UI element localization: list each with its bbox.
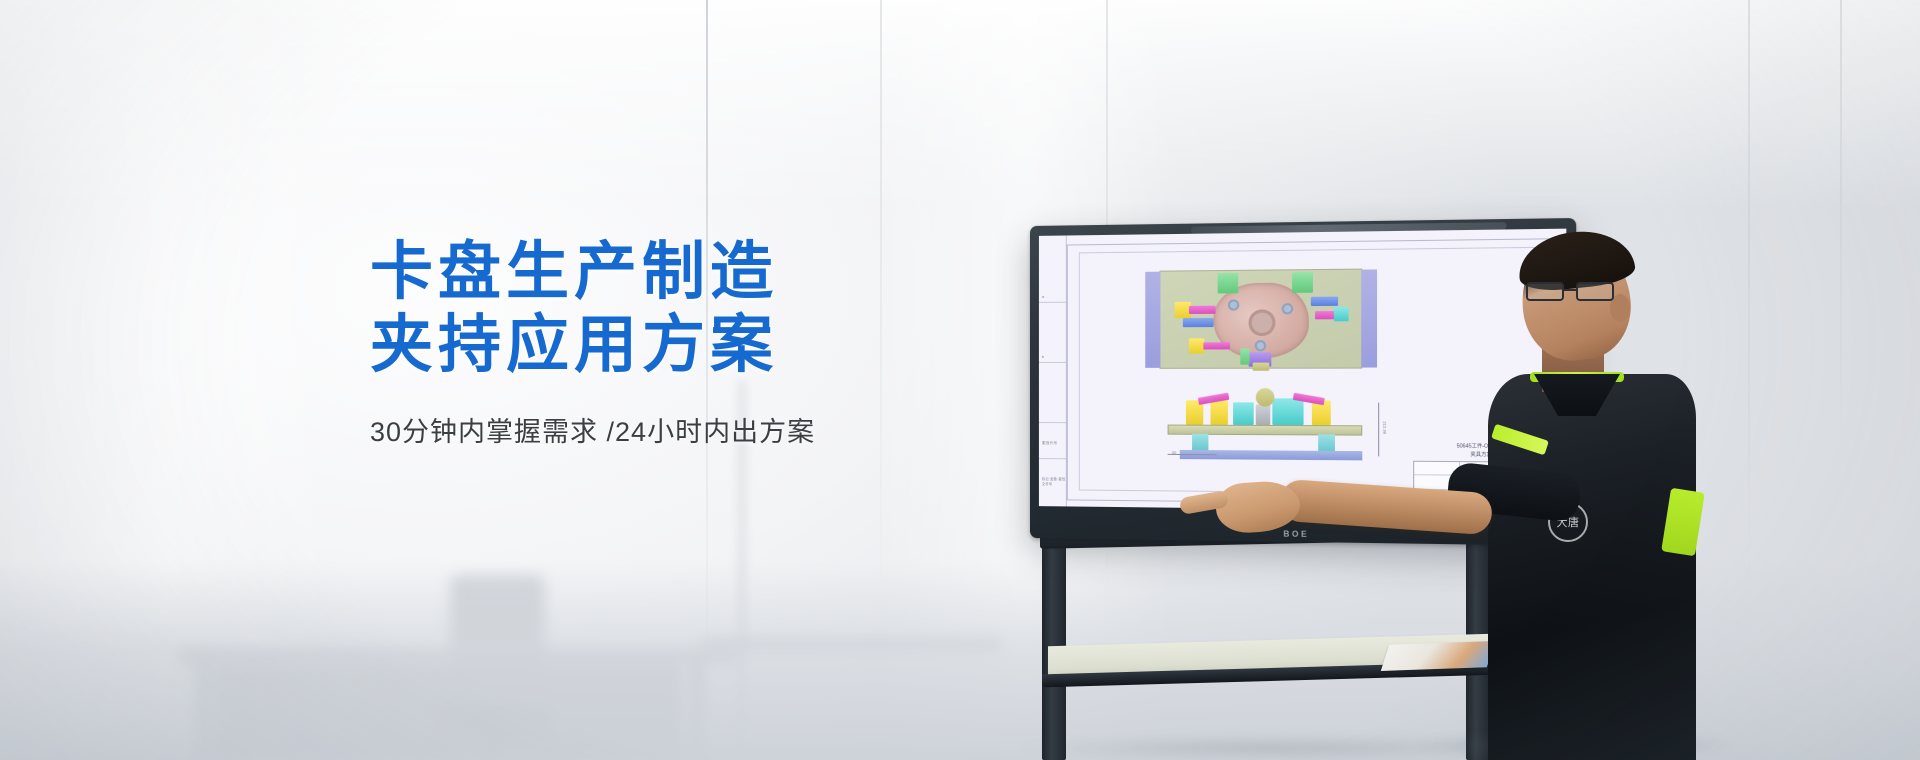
dim-line-h [1168, 454, 1217, 455]
clamp-magenta-1 [1189, 306, 1216, 314]
wall-seam-5 [1840, 0, 1842, 560]
fixture-leg-left [1192, 434, 1208, 450]
clamp-green-2 [1292, 272, 1313, 293]
hub-olive [1256, 388, 1275, 406]
clamp-olive-1 [1253, 363, 1270, 371]
banner-stage: 卡盘生产制造 夹持应用方案 30分钟内掌握需求 /24小时内出方案 [0, 0, 1920, 760]
fixture-leg-right [1318, 434, 1335, 451]
clamp-blue-2 [1311, 297, 1338, 306]
page-title: 卡盘生产制造 夹持应用方案 [370, 236, 930, 382]
post-cyan-2 [1272, 398, 1303, 425]
dim-line-v [1378, 403, 1379, 457]
presenter: 大唐 [1430, 236, 1750, 760]
clamp-green-1 [1218, 273, 1239, 294]
cad-front-view: 20 212.38 [1157, 388, 1377, 462]
post-cyan-1 [1233, 402, 1254, 425]
cad-label-revnote: 标记·处数·更改文件号 [1042, 476, 1066, 486]
headline-line-1: 卡盘生产制造 [370, 237, 778, 307]
post-yellow-2 [1210, 400, 1227, 424]
clamp-blue-1 [1183, 318, 1214, 327]
fixture-rail-right [1361, 269, 1377, 367]
fixture-rail-left [1145, 272, 1160, 368]
banner-copy: 卡盘生产制造 夹持应用方案 30分钟内掌握需求 /24小时内出方案 [370, 236, 930, 449]
ceiling-glow [0, 0, 1920, 210]
cad-label-b: b [1042, 354, 1045, 359]
headline-line-2: 夹持应用方案 [370, 309, 930, 382]
cad-label-a: a [1042, 294, 1045, 299]
clamp-magenta-2 [1203, 342, 1230, 349]
cad-label-rev: 更改代号 [1042, 441, 1058, 446]
post-gray-1 [1256, 404, 1270, 424]
dim-label-height: 212.38 [1382, 421, 1387, 434]
glasses-icon [1526, 282, 1622, 302]
clamp-yellow-2 [1189, 338, 1204, 353]
cad-iso-view [1159, 269, 1362, 369]
banner-subtitle: 30分钟内掌握需求 /24小时内出方案 [370, 410, 930, 449]
clamp-cyan-1 [1334, 307, 1349, 322]
clamp-green-3 [1240, 348, 1249, 364]
display-brand-logo: BOE [1283, 529, 1309, 539]
cad-left-column: a b 更改代号 标记·处数·更改文件号 [1039, 235, 1067, 506]
